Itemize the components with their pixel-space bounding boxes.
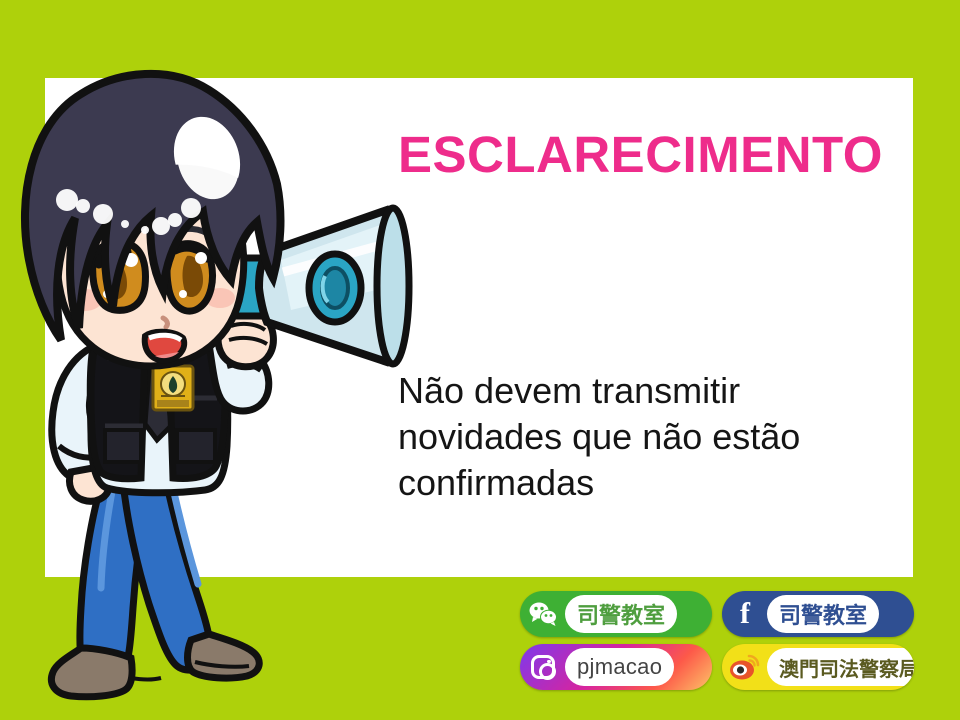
social-badge-wechat[interactable]: 司警教室 [520,591,712,637]
wechat-icon [524,595,562,633]
social-badge-instagram-label: pjmacao [565,648,674,686]
poster-canvas: ESCLARECIMENTO Não devem transmitir novi… [0,0,960,720]
social-badge-weibo-label: 澳門司法警察局 [767,648,914,686]
social-badge-row-2: pjmacao 澳門司法警察局 [520,644,920,690]
facebook-icon: f [726,595,764,633]
social-badge-row-1: 司警教室 f 司警教室 [520,591,920,637]
social-badge-facebook-label: 司警教室 [767,595,879,633]
page-title: ESCLARECIMENTO [398,128,898,182]
weibo-icon [726,648,764,686]
social-badge-instagram[interactable]: pjmacao [520,644,712,690]
police-officer-illustration [0,48,415,720]
social-badges: 司警教室 f 司警教室 pjmacao [520,591,920,697]
body-text: Não devem transmitir novidades que não e… [398,368,888,506]
social-badge-weibo[interactable]: 澳門司法警察局 [722,644,914,690]
instagram-icon [524,648,562,686]
social-badge-facebook[interactable]: f 司警教室 [722,591,914,637]
social-badge-wechat-label: 司警教室 [565,595,677,633]
